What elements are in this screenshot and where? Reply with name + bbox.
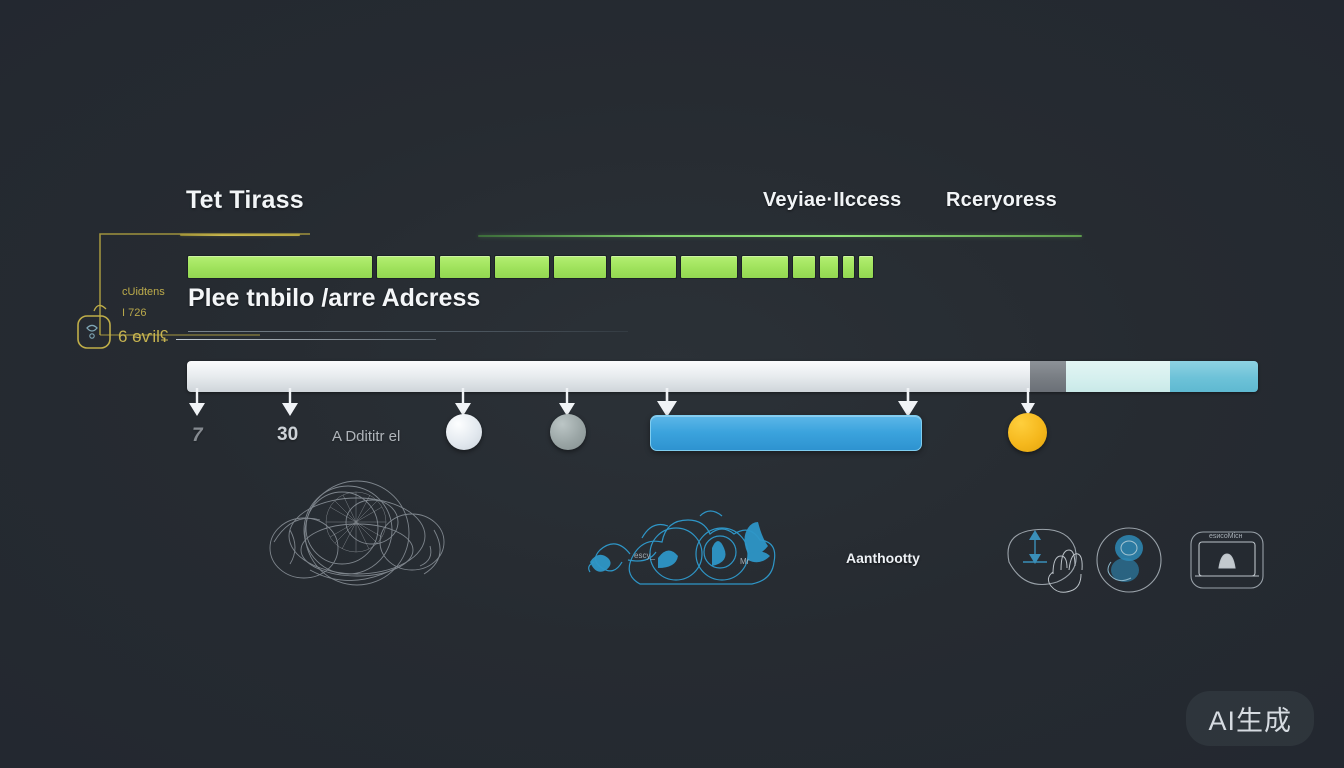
bar-segment bbox=[858, 255, 874, 279]
tick-value-second: 30 bbox=[277, 424, 298, 446]
bar-segment bbox=[842, 255, 855, 279]
progress-segment-teal bbox=[1170, 361, 1258, 392]
bar-segment bbox=[792, 255, 816, 279]
tick-arrow bbox=[898, 388, 918, 417]
progress-segment-pale bbox=[1066, 361, 1170, 392]
bar-segment bbox=[553, 255, 607, 279]
bar-segment bbox=[439, 255, 491, 279]
ai-generated-watermark: AI生成 bbox=[1186, 691, 1314, 746]
divider-line-lower bbox=[176, 339, 436, 340]
header-underline-yellow bbox=[180, 234, 300, 236]
section-header-tertiary: Rcerуoress bbox=[946, 189, 1057, 212]
bar-segment bbox=[376, 255, 436, 279]
green-segmented-bar[interactable] bbox=[187, 255, 874, 279]
section-header-primary: Tet Tirass bbox=[186, 186, 304, 215]
svg-text:еѕсу_: еѕсу_ bbox=[634, 551, 655, 560]
svg-text:сUidtenѕ: сUidtenѕ bbox=[122, 286, 165, 298]
illustration-caption: Aanthootty bbox=[846, 550, 920, 566]
svg-text:6 ѳѵilʢ: 6 ѳѵilʢ bbox=[118, 327, 169, 346]
amber-status-bubble[interactable] bbox=[1008, 413, 1047, 452]
coins-icon bbox=[1108, 535, 1143, 582]
blue-cloud-network-sketch: еѕсу_ Mr bbox=[572, 492, 844, 600]
screen-canvas: Tet Tirass Veyiae·IIccess Rcerуoress сUi… bbox=[0, 0, 1344, 768]
svg-text:I 726: I 726 bbox=[122, 307, 146, 319]
white-status-bubble[interactable] bbox=[446, 414, 482, 450]
bar-segment bbox=[680, 255, 738, 279]
monitor-icon: еѕисоMiсн bbox=[1195, 533, 1259, 576]
bar-segment bbox=[187, 255, 373, 279]
progress-segment-gray bbox=[1030, 361, 1066, 392]
icon-outline-left bbox=[1008, 529, 1076, 584]
tick-arrow bbox=[455, 388, 471, 416]
tick-arrow bbox=[282, 388, 298, 416]
page-subtitle: Plee tnbilo /arre Adcress bbox=[188, 284, 480, 313]
abstract-orbit-sketch bbox=[244, 470, 470, 600]
header-underline-green bbox=[478, 235, 1082, 237]
section-header-secondary: Veyiae·IIccess bbox=[763, 189, 901, 212]
main-progress-bar[interactable] bbox=[187, 361, 1258, 392]
tick-arrow bbox=[1021, 388, 1035, 415]
gray-status-bubble[interactable] bbox=[550, 414, 586, 450]
hand-icon bbox=[1048, 550, 1082, 592]
tick-arrow bbox=[189, 388, 205, 416]
tick-value-first: 7 bbox=[192, 425, 203, 447]
progress-segment-light bbox=[187, 361, 1030, 392]
divider-line-upper bbox=[188, 331, 628, 332]
bar-segment bbox=[610, 255, 677, 279]
bar-segment bbox=[741, 255, 789, 279]
tick-arrow bbox=[657, 388, 677, 417]
primary-action-button[interactable] bbox=[650, 415, 922, 451]
circular-icon-cluster: еѕисоMiсн bbox=[995, 518, 1265, 602]
svg-text:еѕисоMiсн: еѕисоMiсн bbox=[1209, 533, 1243, 540]
resize-arrow-icon bbox=[1023, 530, 1047, 564]
tick-value-third: A Ddititr el bbox=[332, 428, 400, 445]
bar-segment bbox=[494, 255, 550, 279]
bar-segment bbox=[819, 255, 839, 279]
tick-arrow bbox=[559, 388, 575, 416]
svg-text:Mr: Mr bbox=[740, 557, 750, 566]
